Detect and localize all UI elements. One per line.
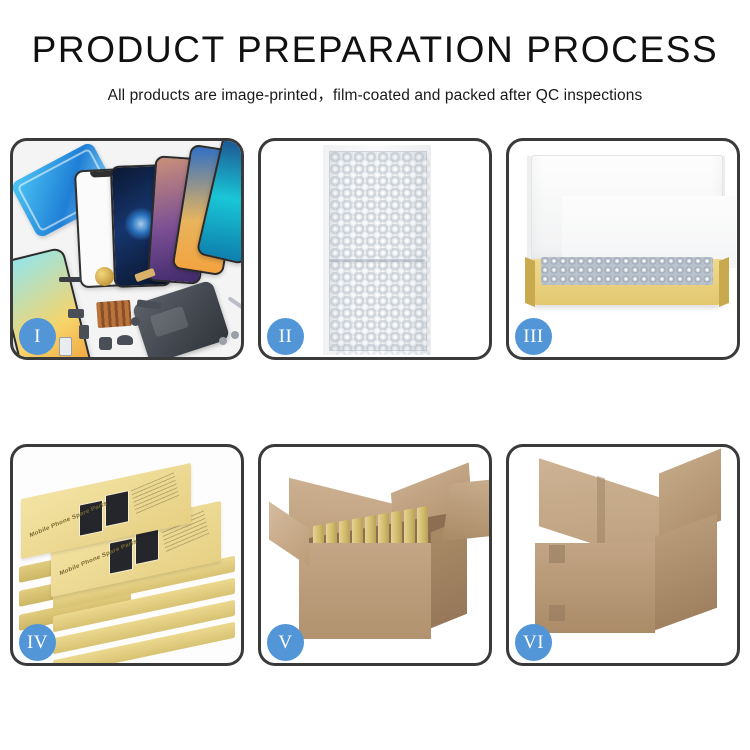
tweezers-icon [227, 296, 241, 310]
step-panel-3: III [506, 138, 740, 360]
copper-coil-icon [95, 267, 114, 286]
carton-tab [549, 605, 565, 621]
step-badge-3: III [515, 318, 552, 355]
carton-flap-right [442, 479, 489, 541]
step-panel-4: Mobile Phone Spare Parts Mobile Phone Sp… [10, 444, 244, 666]
spare-part-icon [68, 309, 84, 318]
bubble-wrapped-product-icon [541, 257, 713, 285]
step-panel-1: I [10, 138, 244, 360]
spare-part-icon [131, 317, 140, 326]
page-subtitle: All products are image-printed，film-coat… [0, 83, 750, 105]
screw-icon [231, 331, 239, 339]
wrap-seam [329, 259, 425, 262]
step-panel-2: II [258, 138, 492, 360]
spare-part-icon [117, 335, 133, 345]
step-badge-6: VI [515, 624, 552, 661]
step-panel-5: V [258, 444, 492, 666]
carton-seam [597, 476, 605, 551]
spare-part-icon [79, 325, 89, 339]
bubble-wrap-overlay-icon [335, 157, 431, 355]
step-badge-5: V [267, 624, 304, 661]
spare-part-icon [59, 277, 81, 282]
carton-front-face [299, 543, 431, 639]
carton-tab [549, 545, 565, 563]
header: PRODUCT PREPARATION PROCESS All products… [0, 0, 750, 105]
step-panel-6: VI [506, 444, 740, 666]
step-badge-1: I [19, 318, 56, 355]
chip-array-icon [96, 300, 132, 328]
box-lid-icon [531, 155, 723, 267]
spare-part-icon [59, 337, 72, 356]
step-badge-4: IV [19, 624, 56, 661]
process-steps-grid: I II III [10, 138, 740, 666]
spare-part-icon [99, 337, 112, 350]
step-badge-2: II [267, 318, 304, 355]
box-spec-lines [131, 472, 179, 515]
page-title: PRODUCT PREPARATION PROCESS [0, 30, 750, 71]
screw-icon [219, 337, 227, 345]
box-product-image [105, 490, 129, 527]
phone-housing-icon [131, 280, 230, 357]
product-preparation-infographic: PRODUCT PREPARATION PROCESS All products… [0, 0, 750, 750]
